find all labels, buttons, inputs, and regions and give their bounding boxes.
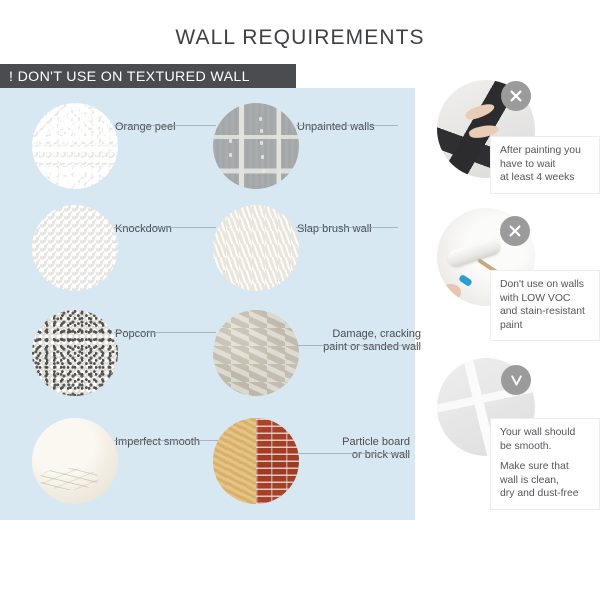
texture-label: Unpainted walls bbox=[297, 108, 417, 147]
particle-board-brick-swatch bbox=[213, 418, 299, 504]
advice-paragraph: After painting you have to wait at least… bbox=[500, 144, 590, 185]
texture-label: Particle board or brick wall bbox=[297, 423, 410, 475]
texture-item-particle-board-brick[interactable]: Particle board or brick wall bbox=[213, 418, 413, 508]
texture-item-damage-cracking-paint[interactable]: Damage, cracking paint or sanded wall bbox=[213, 310, 413, 400]
check-icon bbox=[501, 365, 531, 395]
infographic-page: WALL REQUIREMENTS ! DON'T USE ON TEXTURE… bbox=[0, 0, 600, 600]
slap-brush-wall-swatch bbox=[213, 205, 299, 291]
warning-banner-label: ! DON'T USE ON TEXTURED WALL bbox=[9, 69, 250, 85]
advice-paragraph: Make sure that wall is clean, dry and du… bbox=[500, 460, 590, 501]
imperfect-smooth-swatch bbox=[32, 418, 118, 504]
texture-item-slap-brush-wall[interactable]: Slap brush wall bbox=[213, 205, 413, 295]
texture-item-orange-peel[interactable]: Orange peel bbox=[32, 103, 232, 193]
label-underline bbox=[297, 345, 421, 346]
texture-label: Slap brush wall bbox=[297, 210, 417, 249]
advice-paragraph: Don't use on walls with LOW VOC and stai… bbox=[500, 278, 590, 332]
page-title: WALL REQUIREMENTS bbox=[0, 26, 600, 50]
unpainted-walls-swatch bbox=[213, 103, 299, 189]
texture-item-knockdown[interactable]: Knockdown bbox=[32, 205, 232, 295]
x-icon bbox=[501, 81, 531, 111]
brick-wall-half bbox=[256, 418, 299, 504]
x-icon bbox=[500, 216, 530, 246]
popcorn-swatch bbox=[32, 310, 118, 396]
label-underline bbox=[296, 125, 398, 126]
advice-card-text: Don't use on walls with LOW VOC and stai… bbox=[490, 270, 600, 341]
label-underline bbox=[114, 440, 219, 441]
label-underline bbox=[114, 227, 216, 228]
warning-banner: ! DON'T USE ON TEXTURED WALL bbox=[0, 64, 296, 89]
advice-card-smooth-wall[interactable]: Your wall should be smooth. Make sure th… bbox=[437, 358, 600, 498]
advice-card-wait-4-weeks[interactable]: After painting you have to wait at least… bbox=[437, 80, 600, 190]
label-underline bbox=[114, 125, 216, 126]
texture-item-popcorn[interactable]: Popcorn bbox=[32, 310, 232, 400]
label-underline bbox=[299, 453, 410, 454]
texture-item-unpainted-walls[interactable]: Unpainted walls bbox=[213, 103, 413, 193]
advice-card-text: Your wall should be smooth. Make sure th… bbox=[490, 418, 600, 510]
knockdown-swatch bbox=[32, 205, 118, 291]
advice-card-text: After painting you have to wait at least… bbox=[490, 136, 600, 194]
label-underline bbox=[114, 332, 216, 333]
label-underline bbox=[296, 227, 398, 228]
orange-peel-swatch bbox=[32, 103, 118, 189]
advice-card-low-voc[interactable]: Don't use on walls with LOW VOC and stai… bbox=[437, 208, 600, 333]
damage-cracking-paint-swatch bbox=[213, 310, 299, 396]
particle-board-half bbox=[213, 418, 256, 504]
texture-item-imperfect-smooth[interactable]: Imperfect smooth bbox=[32, 418, 232, 508]
texture-label: Damage, cracking paint or sanded wall bbox=[297, 315, 421, 367]
advice-paragraph: Your wall should be smooth. bbox=[500, 426, 590, 453]
